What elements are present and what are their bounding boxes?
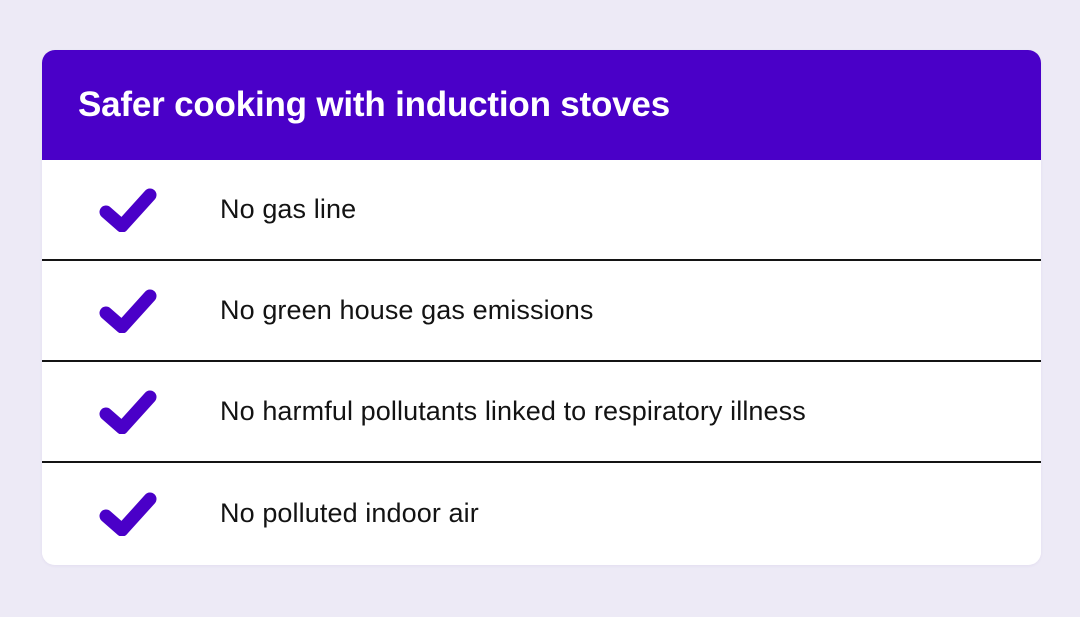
check-icon-cell — [42, 289, 220, 333]
check-icon-cell — [42, 492, 220, 536]
list-item: No polluted indoor air — [42, 463, 1041, 564]
check-icon — [99, 289, 157, 333]
list-item-label: No harmful pollutants linked to respirat… — [220, 395, 806, 427]
page-root: Safer cooking with induction stoves No g… — [0, 0, 1080, 617]
check-icon-cell — [42, 188, 220, 232]
check-icon — [99, 390, 157, 434]
list-item: No gas line — [42, 160, 1041, 261]
list-item-label: No green house gas emissions — [220, 294, 594, 326]
list-item: No green house gas emissions — [42, 261, 1041, 362]
benefits-card: Safer cooking with induction stoves No g… — [42, 50, 1041, 565]
list-item-label: No polluted indoor air — [220, 497, 479, 529]
check-icon — [99, 492, 157, 536]
list-item-label: No gas line — [220, 193, 356, 225]
list-item: No harmful pollutants linked to respirat… — [42, 362, 1041, 463]
check-icon-cell — [42, 390, 220, 434]
check-icon — [99, 188, 157, 232]
page-title: Safer cooking with induction stoves — [78, 86, 670, 125]
benefits-list: No gas line No green house gas emissions — [42, 160, 1041, 564]
card-header: Safer cooking with induction stoves — [42, 50, 1041, 160]
